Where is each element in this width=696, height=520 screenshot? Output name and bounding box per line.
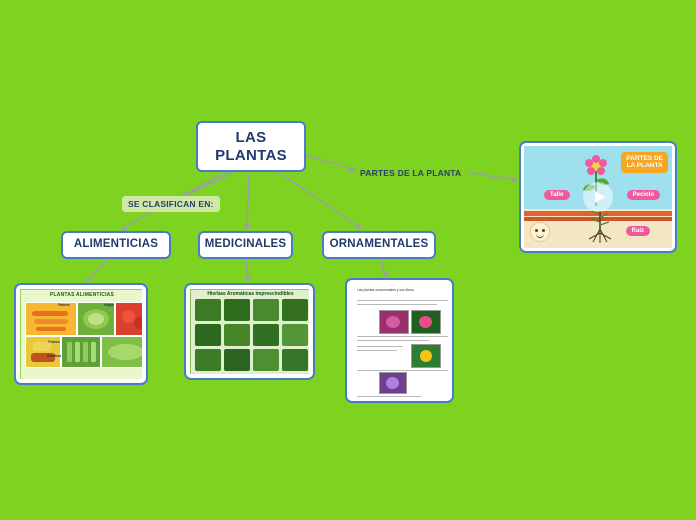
card-plantas-medicinales[interactable]: Hierbas Aromáticas imprescindibles Laure… xyxy=(184,283,315,380)
card-plantas-alimenticias[interactable]: PLANTAS ALIMENTICIAS Raíces Hojas xyxy=(14,283,148,385)
medicinales-poster: Hierbas Aromáticas imprescindibles Laure… xyxy=(190,289,309,374)
herb-photo-11 xyxy=(253,349,279,371)
connector-lines xyxy=(0,0,696,520)
photo-zanahoria xyxy=(25,302,77,336)
node-las-plantas[interactable]: LAS PLANTAS xyxy=(196,121,306,172)
photo-lechuga xyxy=(77,302,115,336)
label-se-clasifican-en: SE CLASIFICAN EN: xyxy=(122,196,220,212)
medicinales-poster-title: Hierbas Aromáticas imprescindibles xyxy=(191,291,309,297)
caption-semillas: Semillas xyxy=(20,354,115,358)
photo-semillas xyxy=(101,336,142,368)
card-plantas-ornamentales[interactable]: Las plantas ornamentales y sus flores xyxy=(345,278,454,403)
node-ornamentales[interactable]: ORNAMENTALES xyxy=(322,231,436,259)
alimenticias-poster: PLANTAS ALIMENTICIAS Raíces Hojas xyxy=(20,289,142,379)
play-icon xyxy=(595,191,605,203)
herb-photo-7 xyxy=(253,324,279,346)
photo-tomate xyxy=(115,302,142,336)
herb-photo-1 xyxy=(195,299,221,321)
herb-photo-5 xyxy=(195,324,221,346)
ornamentales-title: Las plantas ornamentales y sus flores xyxy=(357,288,447,293)
node-medicinales-label: MEDICINALES xyxy=(205,238,286,251)
video-title: PARTES DE LA PLANTA xyxy=(621,152,668,173)
ornamental-photo-3 xyxy=(411,344,441,368)
herb-photo-3 xyxy=(253,299,279,321)
video-title-line2: LA PLANTA xyxy=(627,162,663,169)
herb-photo-10 xyxy=(224,349,250,371)
video-label-peciolo: Peciolo xyxy=(627,190,660,200)
node-ornamentales-label: ORNAMENTALES xyxy=(330,238,429,251)
herb-photo-4 xyxy=(282,299,308,321)
root-title-line1: LAS xyxy=(236,129,267,146)
herb-photo-6 xyxy=(224,324,250,346)
node-alimenticias-label: ALIMENTICIAS xyxy=(74,238,158,251)
alimenticias-image: PLANTAS ALIMENTICIAS Raíces Hojas xyxy=(20,289,142,379)
ornamental-photo-1 xyxy=(379,310,409,334)
ornamental-photo-2 xyxy=(411,310,441,334)
video-thumbnail: PARTES DE LA PLANTA Tallo Peciolo Raíz xyxy=(524,146,672,248)
herb-photo-8 xyxy=(282,324,308,346)
ornamental-photo-4 xyxy=(379,372,407,394)
herb-photo-2 xyxy=(224,299,250,321)
play-button[interactable] xyxy=(583,182,613,212)
node-medicinales[interactable]: MEDICINALES xyxy=(198,231,293,259)
cartoon-face-icon xyxy=(530,222,550,242)
card-partes-de-la-planta-video[interactable]: PARTES DE LA PLANTA Tallo Peciolo Raíz xyxy=(519,141,677,253)
alimenticias-poster-title: PLANTAS ALIMENTICIAS xyxy=(21,292,142,298)
video-label-tallo: Tallo xyxy=(544,190,570,200)
video-title-line1: PARTES DE xyxy=(626,155,663,162)
ornamentales-image: Las plantas ornamentales y sus flores xyxy=(351,284,448,397)
root-plant-illustration xyxy=(580,209,620,245)
herb-photo-12 xyxy=(282,349,308,371)
root-title-line2: PLANTAS xyxy=(215,147,287,164)
video-label-raiz: Raíz xyxy=(626,226,650,236)
herb-label-4: Eneldo xyxy=(232,373,309,374)
medicinales-image: Hierbas Aromáticas imprescindibles Laure… xyxy=(190,289,309,374)
label-partes-de-la-planta: PARTES DE LA PLANTA xyxy=(356,166,465,180)
node-alimenticias[interactable]: ALIMENTICIAS xyxy=(61,231,171,259)
herb-photo-9 xyxy=(195,349,221,371)
mindmap-canvas: LAS PLANTAS SE CLASIFICAN EN: PARTES DE … xyxy=(0,0,696,520)
